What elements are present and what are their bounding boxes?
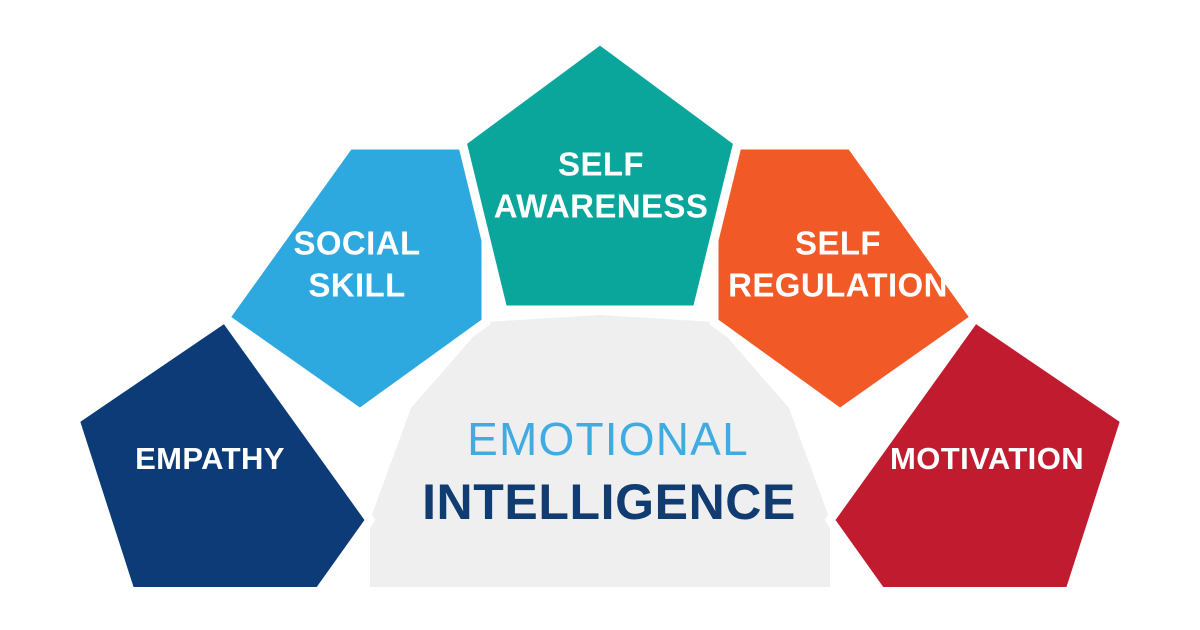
self-awareness-label-line1: SELF [558,146,644,183]
social-skill-label-line2: SKILL [308,267,405,304]
emotional-intelligence-diagram: EMPATHY MOTIVATION SOCIAL SKILL SELF REG… [0,0,1200,630]
self-regulation-label-line2: REGULATION [728,267,948,304]
segment-self-awareness[interactable]: SELF AWARENESS [462,40,738,310]
pentagon-diagram-svg: EMPATHY MOTIVATION SOCIAL SKILL SELF REG… [0,0,1200,630]
center-title-intelligence: INTELLIGENCE [422,474,796,530]
self-awareness-label-line2: AWARENESS [494,188,708,225]
social-skill-label-line1: SOCIAL [293,225,420,262]
center-title-emotional: EMOTIONAL [467,413,749,465]
self-regulation-label-line1: SELF [795,225,881,262]
motivation-label-line1: MOTIVATION [890,441,1084,476]
empathy-label-line1: EMPATHY [135,441,285,476]
